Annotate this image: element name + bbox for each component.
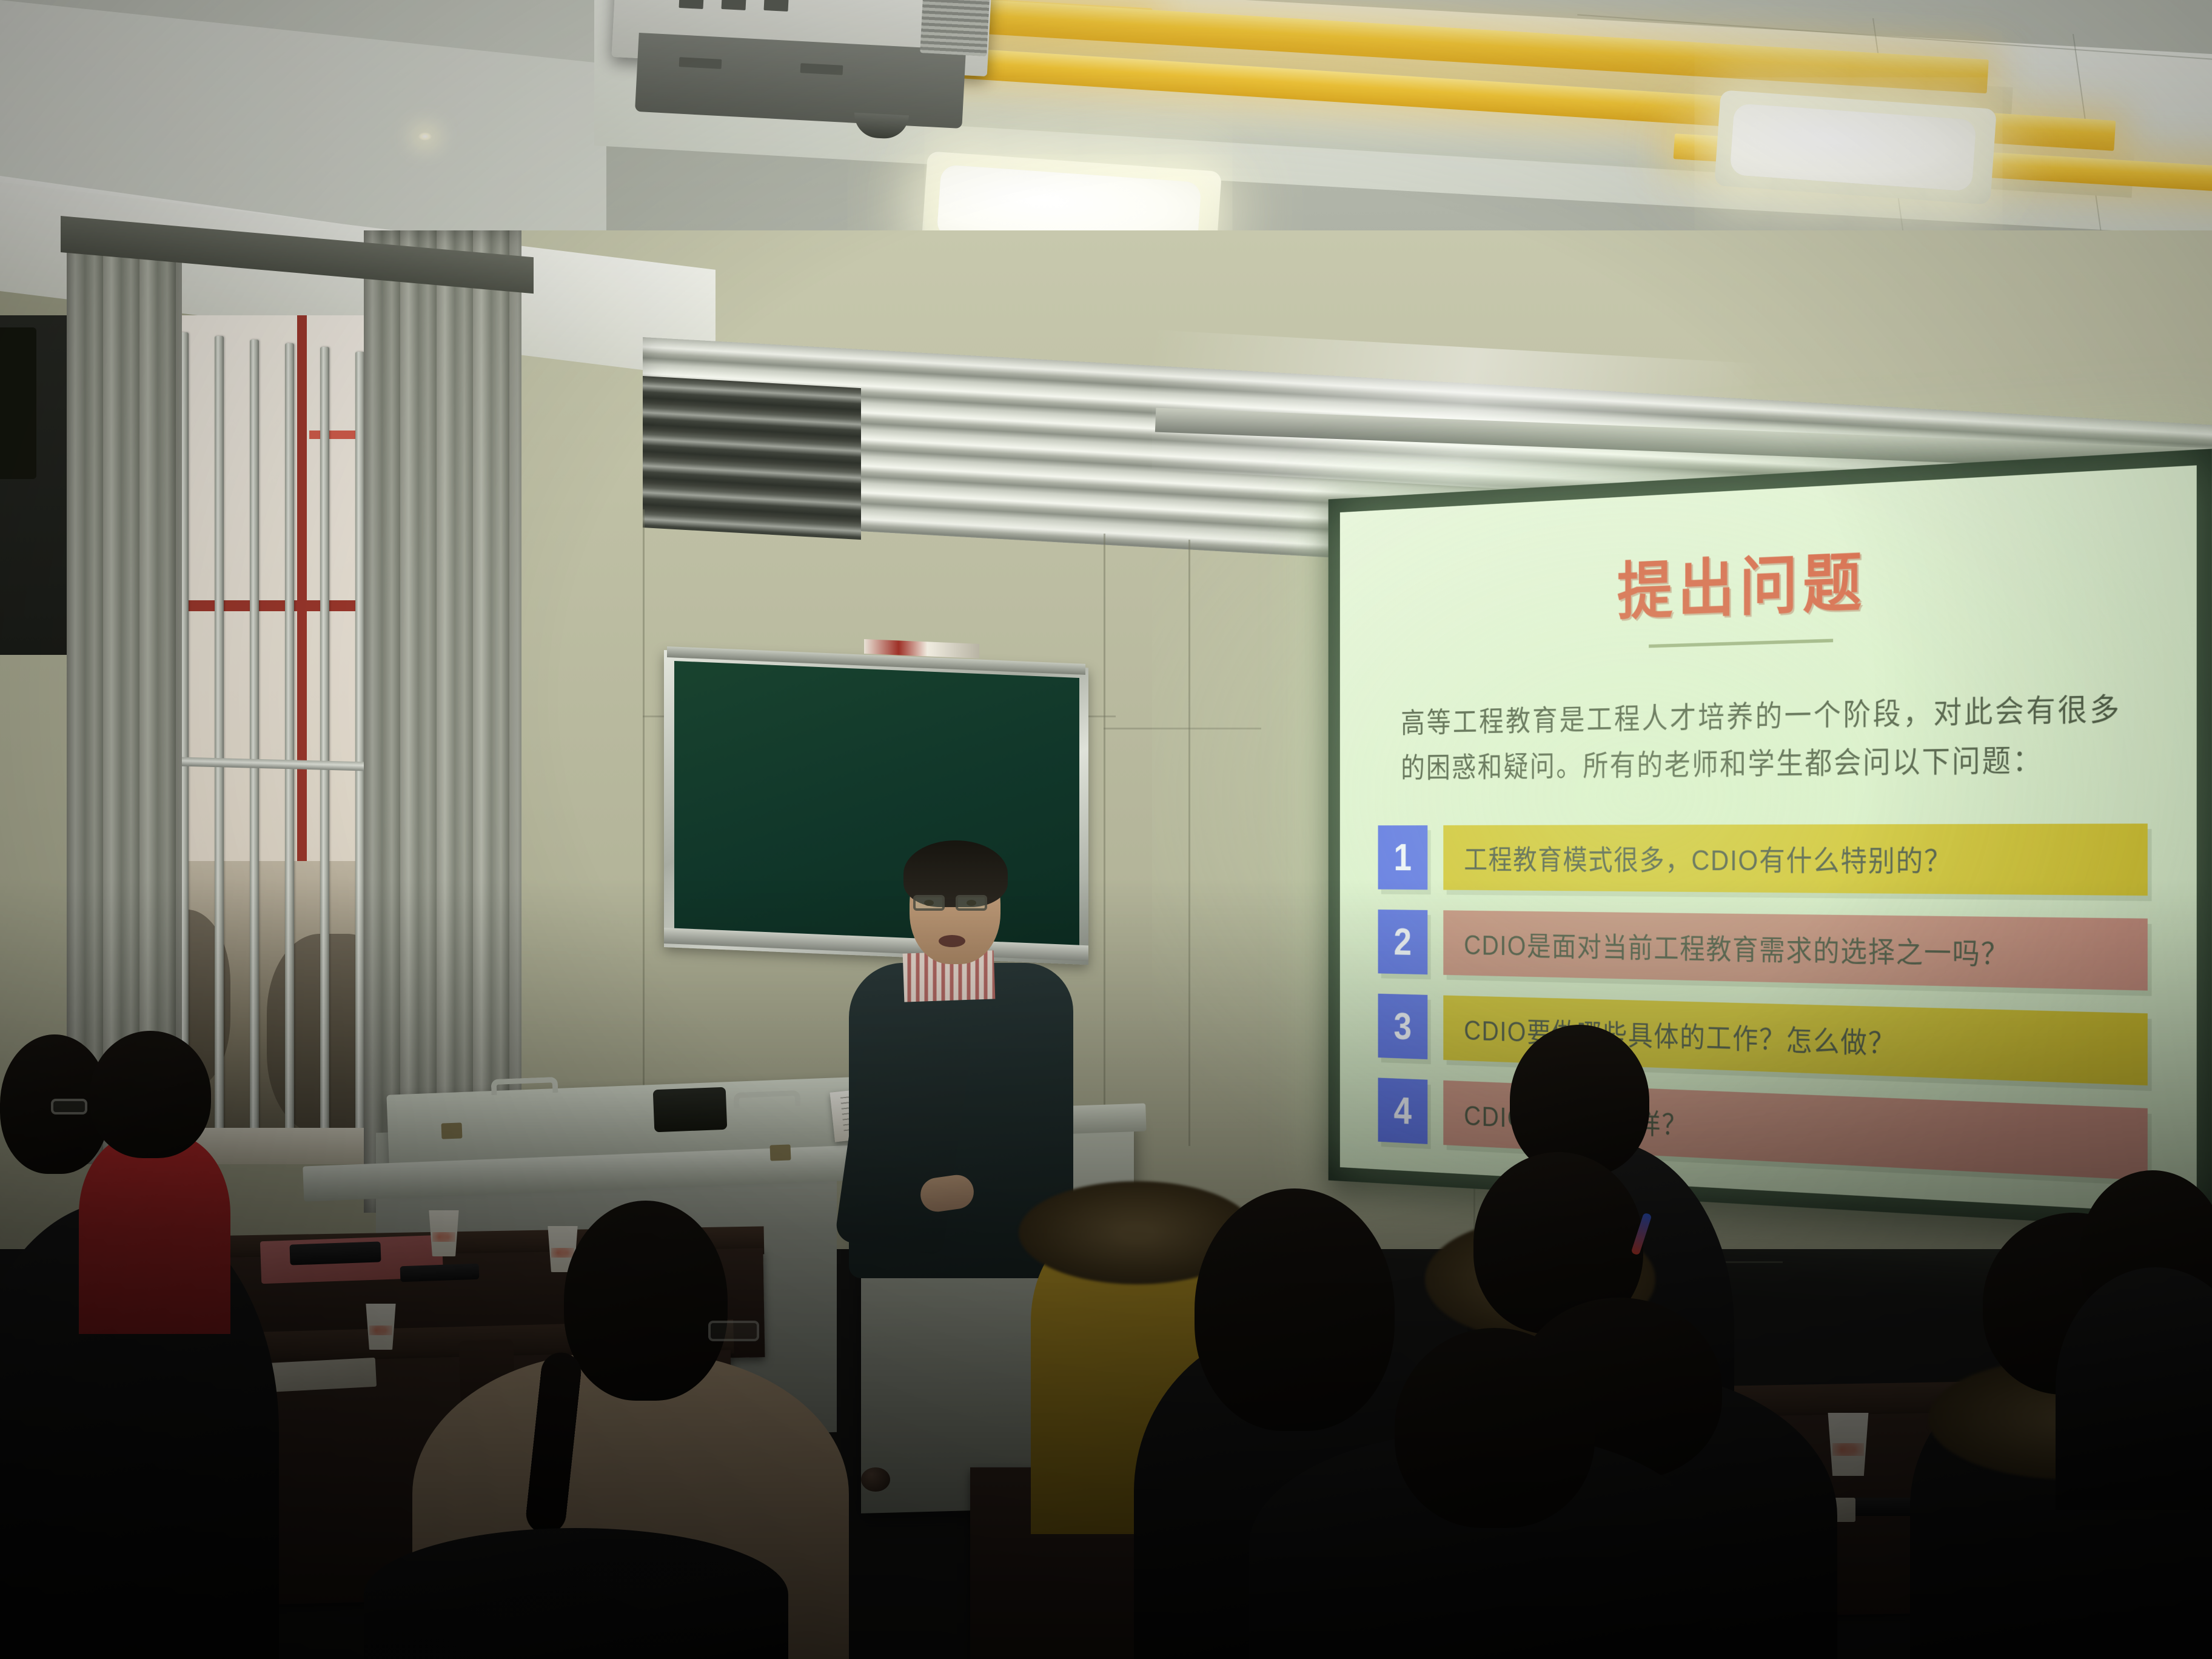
question-number-badge: 2 (1378, 910, 1428, 974)
audience-head (564, 1201, 728, 1401)
slide-title: 提出问题 (1372, 517, 2156, 640)
question-text-bar: 工程教育模式很多，CDIO有什么特别的？ (1443, 824, 2147, 896)
case-latch[interactable] (770, 1144, 791, 1161)
stylus-pen[interactable] (400, 1264, 480, 1282)
chair-knob (861, 1467, 890, 1492)
slide-title-underline (1649, 638, 1833, 648)
question-list: 1 工程教育模式很多，CDIO有什么特别的？ 2 CDIO是面对当前工程教育需求… (1378, 824, 2148, 1181)
blackboard (674, 661, 1079, 952)
case-latch[interactable] (441, 1122, 463, 1139)
question-text-bar: CDIO是面对当前工程教育需求的选择之一吗？ (1443, 911, 2147, 991)
classroom-scene: 提出问题 高等工程教育是工程人才培养的一个阶段，对此会有很多的困惑和疑问。所有的… (0, 0, 2212, 1659)
phone[interactable] (289, 1241, 381, 1265)
audience-glasses (51, 1099, 87, 1114)
wall-speaker (0, 327, 36, 479)
audience-red-vest (79, 1134, 230, 1334)
question-item: 3 CDIO要做哪些具体的工作？怎么做？ (1378, 994, 2148, 1085)
metal-slat-panel-dark (643, 376, 861, 540)
curtain-right[interactable] (364, 230, 521, 1213)
question-item: 4 CDIO下来的发 样？ (1378, 1078, 2148, 1181)
window-security-bar (355, 352, 364, 1144)
window-outer-frame (297, 315, 307, 861)
projector-port (764, 0, 789, 12)
presenter-mouth (939, 935, 965, 947)
curtain-left[interactable] (67, 230, 182, 1164)
case-handle[interactable] (491, 1077, 558, 1095)
wall-seam (1104, 728, 1261, 729)
question-number-badge: 1 (1378, 826, 1428, 890)
wall-seam (643, 509, 645, 1146)
presenter-eye (924, 900, 934, 906)
paper-cup[interactable] (364, 1304, 398, 1350)
question-number-badge: 3 (1378, 994, 1428, 1059)
projector-vent (920, 0, 990, 56)
audience-head (1510, 1025, 1649, 1176)
paper-cup[interactable] (427, 1210, 461, 1256)
audience-head (1395, 1328, 1595, 1528)
audience-head (1195, 1188, 1395, 1431)
projector-port (679, 0, 704, 9)
question-item: 1 工程教育模式很多，CDIO有什么特别的？ (1378, 824, 2148, 896)
window-security-bar (285, 343, 294, 1144)
case-handle[interactable] (734, 1090, 801, 1108)
question-item: 2 CDIO是面对当前工程教育需求的选择之一吗？ (1378, 910, 2148, 991)
window-security-bar (215, 336, 224, 1142)
paper-cup[interactable] (1825, 1413, 1871, 1476)
projector-port (722, 0, 746, 10)
window-security-bar (250, 340, 259, 1144)
question-number-badge: 4 (1378, 1078, 1428, 1144)
slide-intro-text: 高等工程教育是工程人才培养的一个阶段，对此会有很多的困惑和疑问。所有的老师和学生… (1401, 685, 2121, 791)
window-security-bar (320, 347, 329, 1144)
remote-control[interactable] (653, 1087, 728, 1133)
wall-seam (1188, 540, 1190, 1146)
wall-seam (1104, 534, 1105, 1140)
projection-screen: 提出问题 高等工程教育是工程人才培养的一个阶段，对此会有很多的困惑和疑问。所有的… (1329, 449, 2212, 1231)
presentation-slide: 提出问题 高等工程教育是工程人才培养的一个阶段，对此会有很多的困惑和疑问。所有的… (1340, 465, 2197, 1214)
presenter-eye (967, 900, 976, 906)
audience-head (90, 1031, 211, 1158)
audience-body (364, 1528, 788, 1659)
downlight (418, 132, 432, 141)
audience-glasses (708, 1321, 759, 1341)
